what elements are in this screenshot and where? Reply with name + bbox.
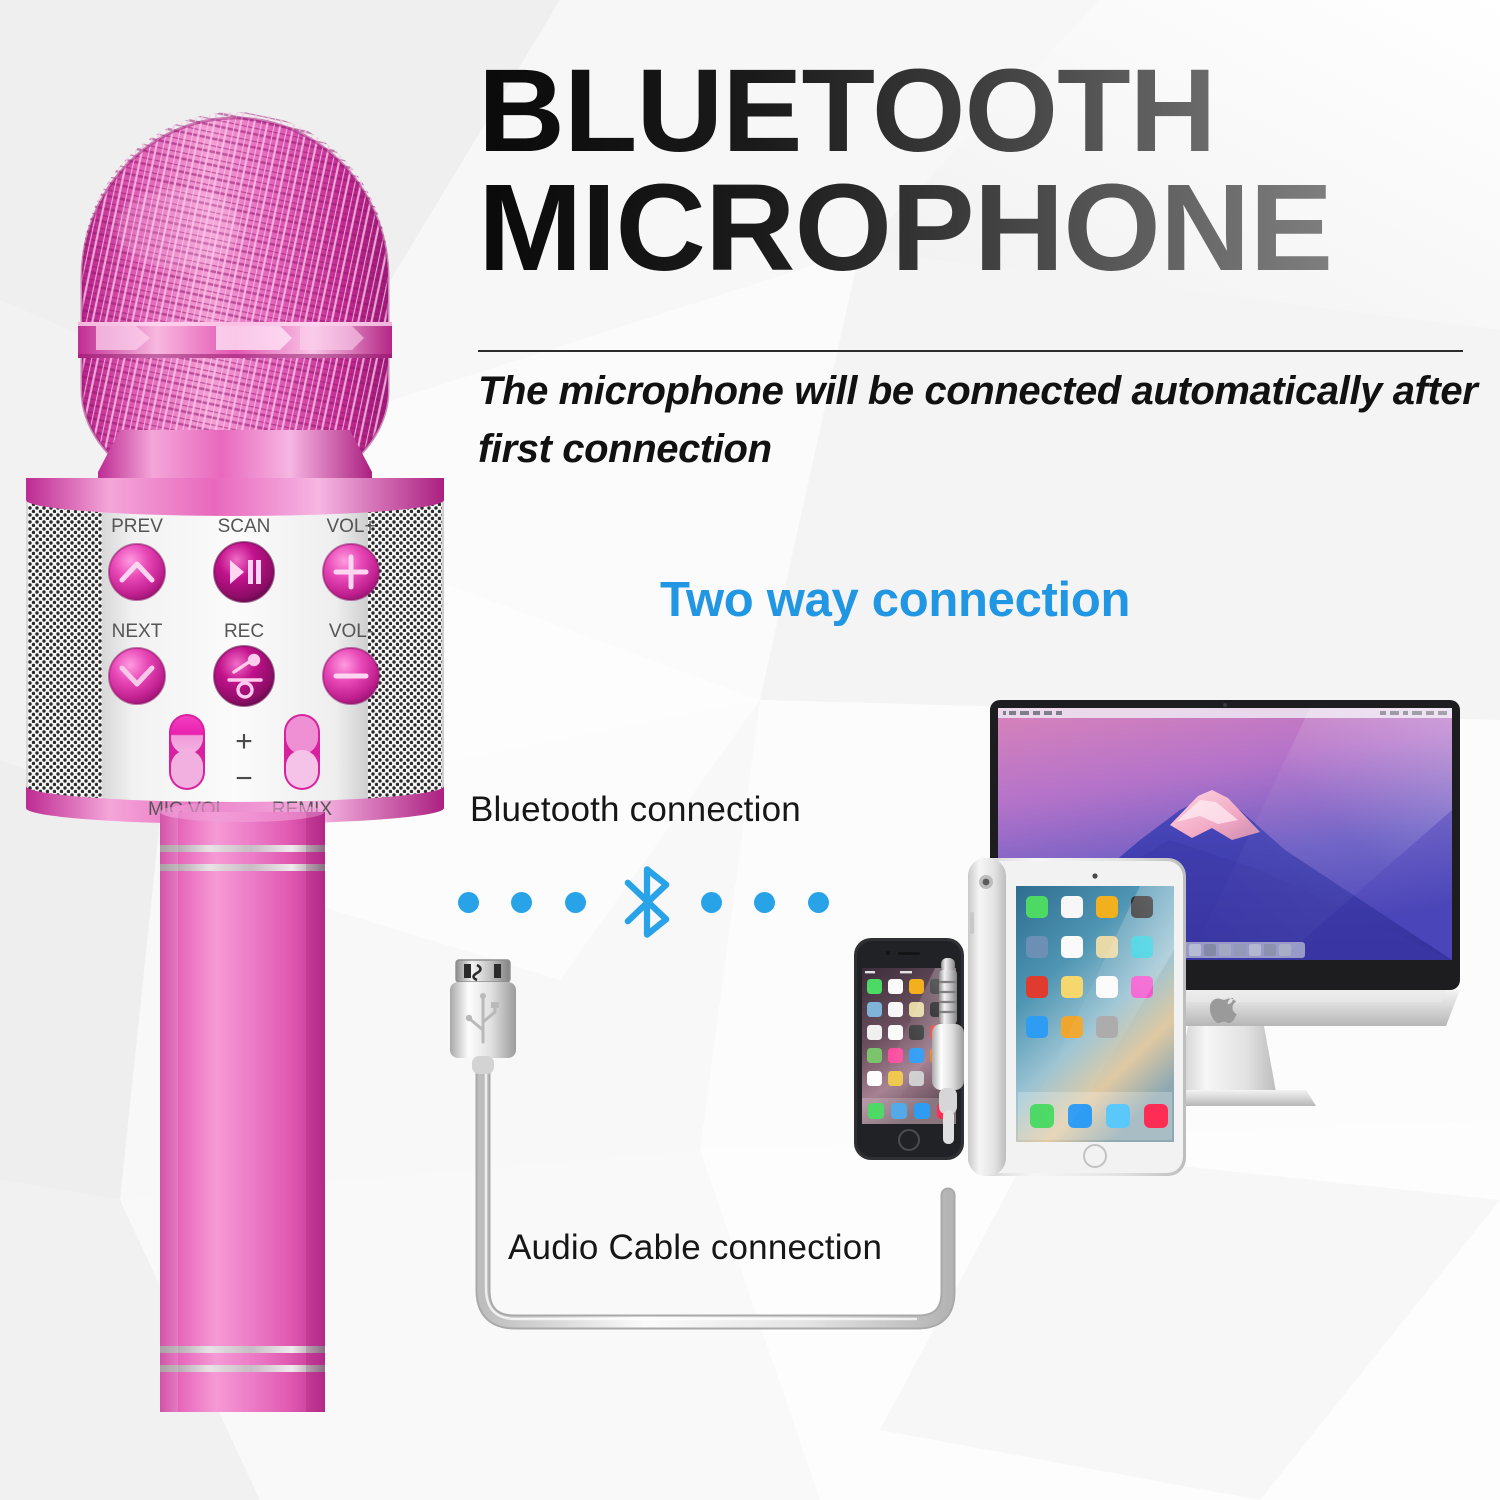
ipad-camera-icon — [1092, 873, 1097, 878]
slider-minus-mark: − — [235, 762, 253, 795]
bluetooth-icon — [598, 854, 696, 950]
speaker-grille-right — [368, 492, 442, 800]
next-button-label: NEXT — [112, 621, 163, 642]
audio-cable-connection-label: Audio Cable connection — [508, 1228, 882, 1268]
remix-slider-knob — [286, 716, 318, 754]
imac-stand — [1176, 1026, 1276, 1092]
bluetooth-connection-label: Bluetooth connection — [470, 790, 801, 830]
rec-button-label: REC — [224, 621, 264, 642]
vol-down-button-label: VOL- — [329, 621, 373, 642]
mic-vol-slider-knob — [171, 716, 203, 754]
infographic-canvas: BLUETOOTH MICROPHONE The microphone will… — [0, 0, 1500, 1500]
bluetooth-dot — [754, 892, 775, 913]
micro-usb-connector — [450, 960, 516, 1074]
bluetooth-dot — [511, 892, 532, 913]
speaker-grille-left — [28, 492, 102, 800]
audio-cable-graphic — [420, 950, 1040, 1420]
vol-up-button-label: VOL+ — [326, 516, 375, 537]
subtitle-text: The microphone will be connected automat… — [478, 362, 1478, 478]
headline-block: BLUETOOTH MICROPHONE — [478, 55, 1478, 288]
microphone-product-image: PREV NEXT SCAN REC — [0, 100, 470, 1420]
page-title-line2: MICROPHONE — [478, 171, 1498, 288]
prev-button-label: PREV — [111, 516, 163, 537]
scan-button-label: SCAN — [218, 516, 271, 537]
bluetooth-dot — [565, 892, 586, 913]
title-divider — [478, 350, 1463, 352]
microphone-handle — [160, 802, 325, 1412]
audio-jack-3.5mm — [932, 958, 964, 1144]
page-title-line1: BLUETOOTH — [478, 55, 1498, 167]
imac-camera-icon — [1223, 703, 1227, 707]
slider-plus-mark: + — [235, 725, 253, 758]
microphone-head-band — [78, 322, 392, 358]
two-way-heading: Two way connection — [660, 572, 1130, 628]
bluetooth-dot — [701, 892, 722, 913]
bluetooth-connection-row — [448, 862, 848, 940]
bluetooth-dot — [808, 892, 829, 913]
bluetooth-dot — [458, 892, 479, 913]
